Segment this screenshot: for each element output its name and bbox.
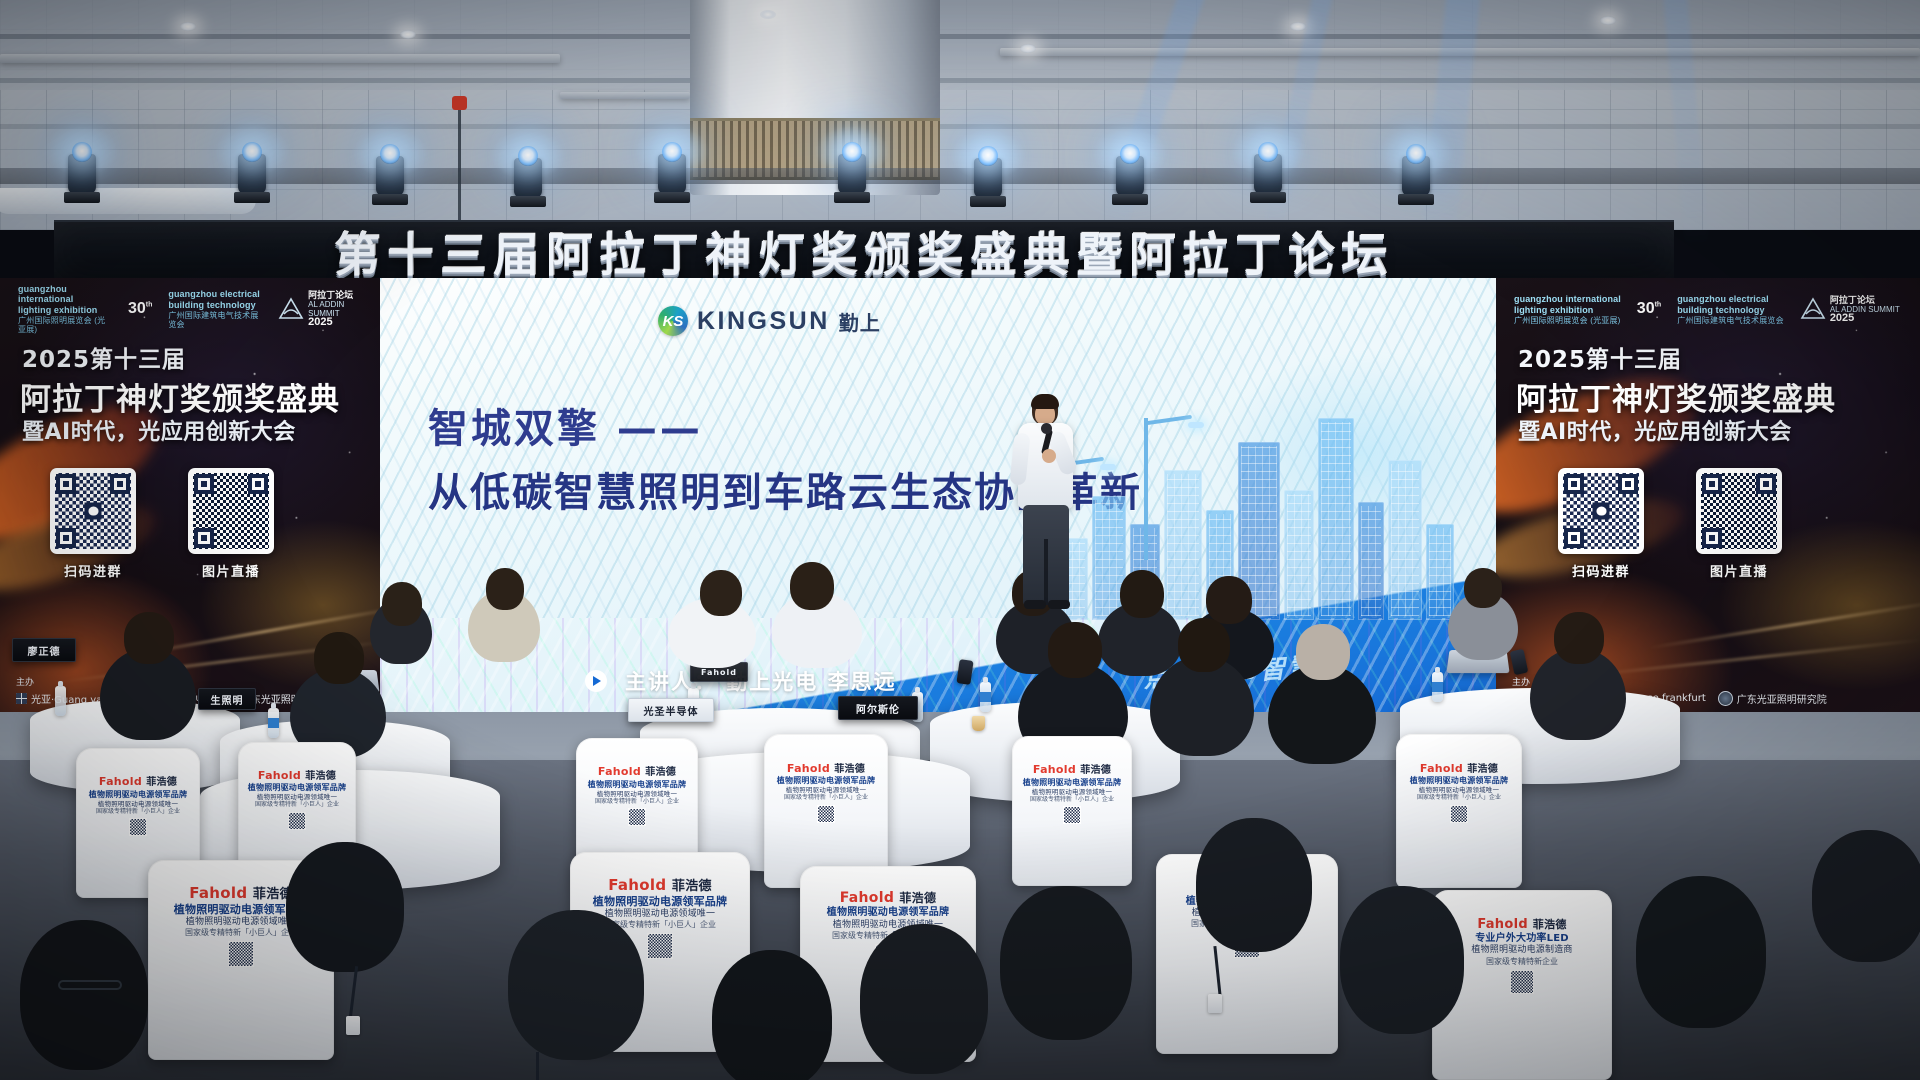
column-cap [0,188,256,214]
moving-head-light [1110,142,1150,208]
name-placard: 光圣半导体 [628,698,714,722]
ceiling-rib [0,78,1920,83]
ceiling-duct [560,92,690,99]
qr-photo-live[interactable]: 图片直播 [1696,468,1782,580]
wechat-icon [85,503,102,520]
conference-photo-scene: 第十三届阿拉丁神灯奖颁奖盛典暨阿拉丁论坛 guangzhou internati… [0,0,1920,1080]
aladdin-summit-logo: 阿拉丁论坛 AL ADDIN SUMMIT 2025 [1800,296,1900,323]
as-logo-text: 阿拉丁论坛 AL ADDIN SUMMIT 2025 [1830,296,1900,323]
lanyard [349,966,358,1018]
audience-head [860,924,988,1074]
qr-label: 扫码进群 [64,561,122,580]
led-video-wall: guangzhou international lighting exhibit… [0,278,1920,720]
chair-brand: Fahold 菲浩德 [1443,917,1601,933]
slide-headline-1: 智城双擎 —— [428,396,703,454]
audience-head [790,562,834,610]
qr-icon [1063,806,1081,824]
as-logo-text: 阿拉丁论坛 AL ADDIN SUMMIT 2025 [308,291,366,327]
qr-photo-live[interactable]: 图片直播 [188,468,274,580]
streetlight-lamp-icon [1188,422,1204,428]
badge [1208,994,1222,1013]
qr-icon [817,805,835,823]
panel-title-line1: 2025第十三届 [1518,340,1682,374]
streetlight-arm [1146,415,1192,425]
anniversary-badge: 30th [128,300,152,318]
audience-head [712,950,832,1080]
beverage-cup [972,716,985,731]
chair-brand: Fahold 菲浩德 [1019,763,1125,778]
panel-title-line2: 阿拉丁神灯奖颁奖盛典 [1516,374,1836,419]
chair-brand: Fahold 菲浩德 [581,876,739,895]
lanyard [536,1052,539,1080]
kingsun-wordmark-cn: 勤上 [839,307,881,336]
as-triangle-icon [278,297,304,321]
panel-title-line2: 阿拉丁神灯奖颁奖盛典 [20,374,340,419]
ceiling-downlight [1290,22,1306,31]
moving-head-light [832,140,872,206]
hanging-cable [458,100,461,220]
audience-head [1178,618,1230,672]
audience-head [382,582,422,626]
ceiling-upper-shade [0,0,1920,90]
audience-head [1296,624,1350,680]
ceiling-downlight [1020,44,1036,53]
moving-head-light [652,140,692,206]
audience-head [508,910,644,1060]
gebt-logo: guangzhou electrical building technology… [1677,294,1784,325]
qr-icon [1510,970,1534,994]
chair-brand: Fahold 菲浩德 [1404,762,1515,777]
qr-icon [129,818,147,836]
chair-brand: Fahold 菲浩德 [811,890,966,908]
chair-brand: Fahold 菲浩德 [83,775,192,790]
eyeglasses [58,980,122,990]
audience-head [1196,818,1312,952]
qr-icon [1450,805,1468,823]
ceiling [0,0,1920,230]
sponsor-logo-row: guangzhou international lighting exhibit… [1514,292,1906,326]
audience-head [1000,886,1132,1040]
badge [346,1016,360,1035]
play-arrow-icon [585,670,607,692]
moving-head-light [1248,140,1288,206]
panel-title-line3: 暨AI时代，光应用创新大会 [22,414,296,446]
audience-head [1340,886,1464,1034]
audience-head [1464,568,1502,608]
kingsun-wordmark: KINGSUN [697,307,830,336]
qr-code-row: 扫码进群 图片直播 [50,468,274,580]
audience-head [1554,612,1604,664]
sponsor-logo-row: guangzhou international lighting exhibit… [18,292,366,326]
aladdin-summit-logo: 阿拉丁论坛 AL ADDIN SUMMIT 2025 [278,291,366,327]
name-placard: 廖正德 [12,638,76,662]
moving-head-light [370,142,410,208]
audience-head [286,842,404,972]
wechat-icon [1593,503,1610,520]
name-placard: 阿尔斯伦 [838,696,918,720]
slide-city-artwork [1048,370,1478,620]
qr-icon [628,808,646,826]
gile-logo: guangzhou international lighting exhibit… [18,284,112,334]
water-bottle [980,682,991,712]
chair-brand: Fahold 菲浩德 [583,765,690,780]
audience-head [124,612,174,664]
audience-head [700,570,742,616]
chair-cover: Fahold 菲浩德 植物照明驱动电源领军品牌 植物照明驱动电源领域唯一 国家级… [764,734,888,888]
audience-head [20,920,148,1070]
chair-cover: Fahold 菲浩德 植物照明驱动电源领军品牌 植物照明驱动电源领域唯一 国家级… [1012,736,1132,886]
streetlight-pole [1144,418,1148,560]
panel-title-line3: 暨AI时代，光应用创新大会 [1518,414,1792,446]
qr-label: 图片直播 [202,561,260,580]
audience-head [1636,876,1766,1028]
ceiling-duct [0,54,560,63]
ceiling-downlight [400,30,416,39]
qr-icon [228,941,254,967]
qr-code-row: 扫码进群 图片直播 [1558,468,1782,580]
chair-brand: Fahold 菲浩德 [771,762,880,777]
cable-clamp [452,96,467,110]
water-bottle [268,708,279,738]
ceiling-rib [0,124,1920,129]
ceiling-rib [0,34,1920,39]
audience-area: 廖正德 生照明 光圣半导体 阿尔斯伦 Fahold [0,760,1920,1080]
chair-cover: Fahold 菲浩德 植物照明驱动电源领军品牌 植物照明驱动电源领域唯一 国家级… [1396,734,1522,888]
hall-column [690,0,940,195]
ceiling-downlight [1600,16,1616,25]
qr-icon [288,812,306,830]
moving-head-light [508,144,548,210]
moving-head-light [62,140,102,206]
moving-head-light [232,140,272,206]
audience-head [1812,830,1920,962]
ceiling-downlight [180,22,196,31]
kingsun-logo: KS KINGSUN 勤上 [658,306,881,336]
audience-head [1048,622,1102,678]
anniversary-badge: 30th [1637,300,1661,318]
kingsun-mark-icon: KS [658,306,688,336]
streetlight-lamp-icon [1100,464,1116,470]
as-triangle-icon [1800,297,1826,321]
gebt-logo: guangzhou electrical building technology… [168,289,262,329]
event-title: 第十三届阿拉丁神灯奖颁奖盛典暨阿拉丁论坛 [54,219,1674,285]
qr-label: 图片直播 [1710,561,1768,580]
moving-head-light [968,144,1008,210]
qr-icon [647,933,673,959]
event-header-banner: 第十三届阿拉丁神灯奖颁奖盛典暨阿拉丁论坛 [54,220,1674,282]
audience-head [1120,570,1164,618]
panel-title-line1: 2025第十三届 [22,340,186,374]
ceiling-downlight [760,10,776,19]
qr-label: 扫码进群 [1572,561,1630,580]
qr-group-join[interactable]: 扫码进群 [1558,468,1644,580]
name-placard: 生照明 [198,688,256,710]
moving-head-light [1396,142,1436,208]
water-bottle [55,686,66,716]
audience-head [1206,576,1252,624]
qr-group-join[interactable]: 扫码进群 [50,468,136,580]
gile-logo: guangzhou international lighting exhibit… [1514,294,1621,325]
chair-brand: Fahold 菲浩德 [245,769,349,784]
microphone-head [1041,423,1052,434]
presenter-on-stage [1008,395,1082,625]
audience-head [314,632,364,684]
gdlighting-institute-logo: 广东光亚照明研究院 [1718,691,1827,706]
audience-head [486,568,524,610]
slide-speaker-text: 主讲人： 勤上光电 李思远 [625,666,897,696]
water-bottle [1432,672,1443,702]
